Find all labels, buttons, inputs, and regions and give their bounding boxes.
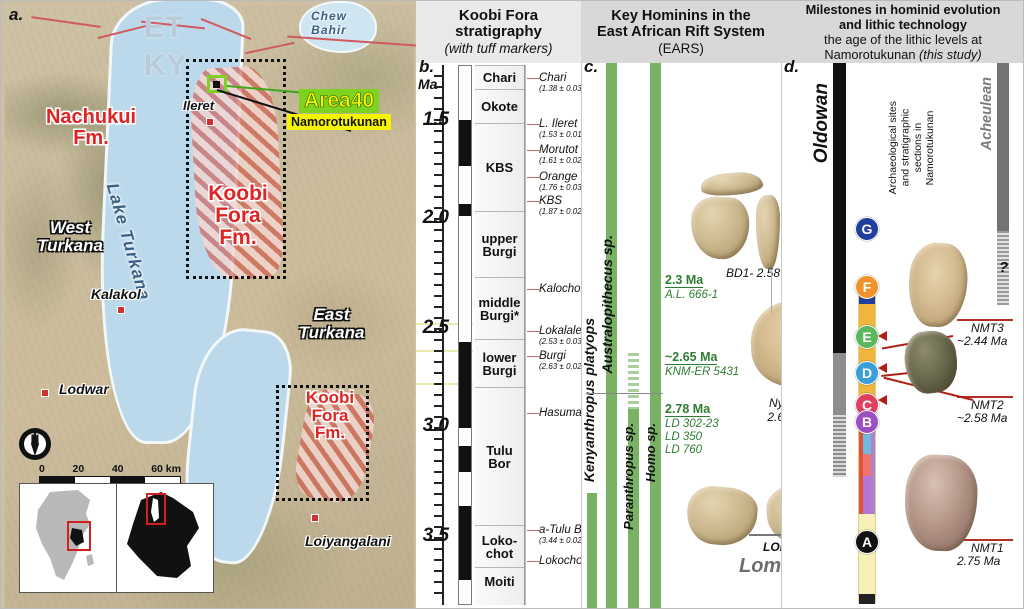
tuff-age: (1.87 ± 0.02) bbox=[539, 208, 583, 216]
strat-header-title: Koobi Fora stratigraphy bbox=[455, 8, 542, 42]
axis-tick-minor bbox=[434, 537, 443, 539]
industry-label-oldowan: Oldowan bbox=[811, 83, 833, 163]
place-marker-loiyangalani bbox=[311, 514, 319, 522]
range-connector-line-kenyanthropus bbox=[587, 393, 663, 394]
tech-panel-header: Milestones in hominid evolution and lith… bbox=[781, 1, 1024, 63]
axis-tick-minor bbox=[434, 251, 443, 253]
tech-panel: Oldowan Acheulean ? Archaeological sites… bbox=[781, 63, 1024, 609]
svg-text:N: N bbox=[31, 432, 40, 446]
tuff-marker-burgi: Burgi(2.63 ± 0.02) bbox=[529, 351, 583, 371]
area40-site-dot bbox=[213, 81, 220, 88]
nmt-pointer-arrowhead bbox=[878, 331, 887, 341]
taxon-label-australopithecus: Australopithecus sp. bbox=[599, 235, 615, 373]
tech-header-line4: Namorotukunan (this study) bbox=[824, 47, 981, 62]
hominin-header-subtitle: (EARS) bbox=[658, 41, 704, 56]
member-upper-burgi: upper Burgi bbox=[475, 211, 524, 277]
place-marker-ileret bbox=[206, 118, 214, 126]
inset-locator-maps bbox=[19, 483, 214, 593]
hominin-note-specimen: LD 302-23 LD 350 LD 760 bbox=[665, 418, 719, 457]
axis-tick-minor bbox=[434, 284, 443, 286]
tech-header-line3-text: the age of the lithic levels at bbox=[824, 32, 982, 47]
koobi-fora-fm-label-north: Koobi Fora Fm. bbox=[193, 183, 283, 248]
panel-d-left-border bbox=[781, 63, 782, 609]
tuff-name: Morutot bbox=[539, 145, 583, 157]
tuff-tick bbox=[527, 289, 541, 290]
tuff-age: (1.53 ± 0.01) bbox=[539, 131, 583, 139]
axis-tick-minor bbox=[434, 317, 443, 319]
nmt-label-nmt1: NMT12.75 Ma bbox=[957, 539, 1013, 568]
place-label-kalakol: Kalakol bbox=[91, 286, 141, 302]
east-turkana-label: East Turkana bbox=[279, 306, 384, 342]
member-lower-burgi: lower Burgi bbox=[475, 339, 524, 387]
nmt-pointer-arrowhead bbox=[878, 395, 887, 405]
taxon-label-kenyanthropus: Kenyanthropus platyops bbox=[581, 318, 597, 482]
hominin-note-specimen: A.L. 666-1 bbox=[665, 289, 718, 302]
nmt-label-nmt2: NMT2~2.58 Ma bbox=[957, 396, 1013, 425]
axis-tick-minor bbox=[434, 185, 443, 187]
hominin-note-age: 2.78 Ma bbox=[665, 402, 710, 417]
axis-tick-minor bbox=[434, 152, 443, 154]
axis-tick-minor bbox=[434, 273, 443, 275]
industry-bar-oldowan-grey bbox=[833, 353, 846, 413]
place-label-lodwar: Lodwar bbox=[59, 381, 109, 397]
nmt-label-nmt3: NMT3~2.44 Ma bbox=[957, 319, 1013, 348]
axis-tick-minor bbox=[434, 394, 443, 396]
mag-band bbox=[459, 342, 471, 428]
tuff-name: L. Ileret bbox=[539, 119, 583, 131]
axis-tick-minor bbox=[434, 460, 443, 462]
axis-tick-minor bbox=[434, 262, 443, 264]
chew-bahir-label: Chew Bahir bbox=[311, 9, 347, 37]
map-scalebar: 0 20 40 60 km bbox=[39, 463, 181, 485]
member-middle-burgi: middle Burgi* bbox=[475, 277, 524, 339]
axis-tick-minor bbox=[434, 548, 443, 550]
axis-tick-minor bbox=[434, 493, 443, 495]
axis-tick-minor bbox=[434, 515, 443, 517]
tuff-marker-lokalalei: Lokalalei(2.53 ± 0.03) bbox=[529, 326, 583, 346]
nmt-age: 2.75 Ma bbox=[957, 555, 1013, 568]
tuff-name: a-Tulu Bor bbox=[539, 525, 583, 537]
tuff-marker-a-tulu-bor: a-Tulu Bor(3.44 ± 0.02) bbox=[529, 525, 583, 545]
place-label-loiyangalani: Loiyangalani bbox=[305, 533, 391, 549]
scalebar-tick-0: 0 bbox=[39, 463, 45, 475]
axis-tick-minor bbox=[434, 163, 443, 165]
strat-level-marker-g[interactable]: G bbox=[855, 217, 879, 241]
west-turkana-label: West Turkana bbox=[15, 219, 125, 255]
figure-root: ET KY Lake Turkana Chew Bahir Nachukui F… bbox=[0, 0, 1024, 609]
koobi-fora-fm-label-south: Koobi Fora Fm. bbox=[289, 389, 371, 442]
industry-bar-oldowan-uncertain bbox=[833, 413, 846, 477]
tuff-tick bbox=[527, 124, 541, 125]
hominin-note-age: ~2.65 Ma bbox=[665, 350, 717, 365]
tuff-tick bbox=[527, 177, 541, 178]
panel-letter-c: c. bbox=[584, 57, 598, 77]
axis-tick-minor bbox=[434, 218, 443, 220]
hominin-note-knmer5431: ~2.65 Ma KNM-ER 5431 bbox=[665, 348, 739, 379]
place-marker-lodwar bbox=[41, 389, 49, 397]
hominin-note-ld: 2.78 Ma LD 302-23 LD 350 LD 760 bbox=[665, 400, 719, 457]
tech-header-site: Namorotukunan bbox=[824, 47, 915, 62]
strat-column-caption: Archaeological sites and stratigraphic s… bbox=[887, 101, 937, 194]
axis-tick-minor bbox=[434, 207, 443, 209]
axis-tick-minor bbox=[434, 108, 443, 110]
axis-tick-minor bbox=[434, 361, 443, 363]
tuff-name: Chari bbox=[539, 73, 583, 85]
mag-band bbox=[459, 120, 471, 166]
industry-bar-acheulean bbox=[997, 63, 1009, 231]
axis-tick-minor bbox=[434, 339, 443, 341]
axis-label-3-5: 3.5 bbox=[415, 525, 449, 547]
axis-tick-minor bbox=[434, 471, 443, 473]
panel-letter-b: b. bbox=[419, 57, 434, 77]
tech-header-title: Milestones in hominid evolution and lith… bbox=[806, 2, 1001, 32]
tuff-marker-column: Chari(1.38 ± 0.03)L. Ileret(1.53 ± 0.01)… bbox=[525, 65, 581, 605]
country-label-ky: KY bbox=[144, 49, 188, 83]
axis-tick-minor bbox=[434, 130, 443, 132]
hominin-note-age: 2.3 Ma bbox=[665, 273, 703, 288]
tuff-age: (3.44 ± 0.02) bbox=[539, 537, 583, 545]
axis-tick-minor bbox=[434, 405, 443, 407]
tuff-tick bbox=[527, 78, 541, 79]
axis-tick-minor bbox=[434, 559, 443, 561]
strat-level-marker-a[interactable]: A bbox=[855, 530, 879, 554]
member-chari: Chari bbox=[475, 65, 524, 89]
axis-tick-minor bbox=[434, 581, 443, 583]
strat-level-marker-f[interactable]: F bbox=[855, 275, 879, 299]
tuff-marker-lokochot: Lokochot bbox=[529, 556, 583, 568]
nmt-age: ~2.44 Ma bbox=[957, 335, 1013, 348]
tuff-marker-l-ileret: L. Ileret(1.53 ± 0.01) bbox=[529, 119, 583, 139]
axis-tick-minor bbox=[434, 416, 443, 418]
tuff-marker-chari: Chari(1.38 ± 0.03) bbox=[529, 73, 583, 93]
strat-level-marker-e[interactable]: E bbox=[855, 325, 879, 349]
axis-tick-minor bbox=[434, 570, 443, 572]
map-panel: ET KY Lake Turkana Chew Bahir Nachukui F… bbox=[1, 1, 416, 609]
panel-letter-a: a. bbox=[9, 5, 23, 25]
namorotukunan-map-label: Namorotukunan bbox=[287, 114, 391, 130]
tuff-name: KBS bbox=[539, 196, 583, 208]
tuff-tick bbox=[527, 356, 541, 357]
axis-tick-minor bbox=[434, 438, 443, 440]
axis-tick-minor bbox=[434, 196, 443, 198]
magnetostratigraphy-column bbox=[458, 65, 472, 605]
lithic-photo-nmt1 bbox=[903, 454, 978, 552]
axis-tick-minor bbox=[434, 75, 443, 77]
tuff-name: Lokochot bbox=[539, 556, 583, 568]
axis-tick-minor bbox=[434, 86, 443, 88]
axis-tick-minor bbox=[434, 328, 443, 330]
place-marker-kalakol bbox=[117, 306, 125, 314]
tuff-tick bbox=[527, 331, 541, 332]
nmt-pointer-arrowhead bbox=[878, 363, 887, 373]
country-label-et: ET bbox=[144, 11, 184, 45]
axis-tick-minor bbox=[434, 592, 443, 594]
panel-letter-d: d. bbox=[784, 57, 799, 77]
mag-band bbox=[459, 446, 471, 472]
nachukui-fm-label: Nachukui Fm. bbox=[21, 107, 161, 149]
member-column: ChariOkoteKBSupper Burgimiddle Burgi*low… bbox=[475, 65, 525, 605]
connector-bd1-top bbox=[771, 269, 772, 313]
strat-segment-A bbox=[859, 594, 875, 604]
tuff-name: Burgi bbox=[539, 351, 583, 363]
axis-tick-minor bbox=[434, 229, 443, 231]
axis-tick-minor bbox=[434, 350, 443, 352]
hominin-header-title: Key Hominins in the East African Rift Sy… bbox=[597, 8, 765, 41]
mag-band bbox=[459, 204, 471, 216]
tuff-tick bbox=[527, 561, 541, 562]
inset-africa-map bbox=[20, 484, 116, 592]
scalebar-tick-40: 40 bbox=[112, 463, 124, 475]
axis-tick-minor bbox=[434, 295, 443, 297]
tuff-marker-morutot: Morutot(1.61 ± 0.02) bbox=[529, 145, 583, 165]
tuff-age: (2.53 ± 0.03) bbox=[539, 338, 583, 346]
industry-bar-oldowan bbox=[833, 63, 846, 353]
tuff-marker-hasuma: Hasuma bbox=[529, 408, 583, 420]
axis-tick-minor bbox=[434, 504, 443, 506]
axis-tick-minor bbox=[434, 97, 443, 99]
axis-tick-minor bbox=[434, 383, 443, 385]
axis-label-2-5: 2.5 bbox=[415, 317, 449, 339]
strat-level-marker-d[interactable]: D bbox=[855, 361, 879, 385]
tuff-age: (1.61 ± 0.02) bbox=[539, 157, 583, 165]
tuff-marker-kalochoro: Kalochoro bbox=[529, 284, 583, 296]
axis-tick-minor bbox=[434, 427, 443, 429]
taxon-label-paranthropus: Paranthropus sp. bbox=[621, 423, 636, 530]
range-bar-kenyanthropus bbox=[587, 493, 597, 609]
lithic-photo-bd1-flake-3 bbox=[756, 195, 780, 269]
range-bar-homo bbox=[650, 63, 661, 609]
axis-tick-minor bbox=[434, 372, 443, 374]
taxon-label-homo: Homo sp. bbox=[643, 423, 658, 482]
axis-label-2-0: 2.0 bbox=[415, 207, 449, 229]
tuff-marker-kbs: KBS(1.87 ± 0.02) bbox=[529, 196, 583, 216]
member-moiti: Moiti bbox=[475, 567, 524, 595]
hominin-panel-header: Key Hominins in the East African Rift Sy… bbox=[581, 1, 781, 63]
tech-header-line3: the age of the lithic levels at bbox=[824, 32, 982, 47]
scalebar-tick-20: 20 bbox=[73, 463, 85, 475]
axis-label-1-5: 1.5 bbox=[415, 109, 449, 131]
industry-label-acheulean: Acheulean bbox=[979, 77, 995, 150]
hominin-note-al666: 2.3 Ma A.L. 666-1 bbox=[665, 271, 718, 302]
inset-kenya-map bbox=[117, 484, 213, 592]
member-okote: Okote bbox=[475, 89, 524, 123]
axis-tick-minor bbox=[434, 482, 443, 484]
nmt-name: NMT2 bbox=[971, 399, 1013, 412]
mag-band bbox=[459, 506, 471, 580]
axis-tick-minor bbox=[434, 119, 443, 121]
tuff-tick bbox=[527, 530, 541, 531]
axis-label-3-0: 3.0 bbox=[415, 415, 449, 437]
tuff-age: (1.76 ± 0.03) bbox=[539, 184, 583, 192]
tuff-age: (2.63 ± 0.02) bbox=[539, 363, 583, 371]
strat-level-marker-b[interactable]: B bbox=[855, 410, 879, 434]
tuff-name: Lokalalei bbox=[539, 326, 583, 338]
time-axis-unit-label: Ma bbox=[418, 76, 437, 92]
member-loko-chot: Loko- chot bbox=[475, 525, 524, 567]
area40-label: Area40 bbox=[299, 89, 379, 113]
tuff-tick bbox=[527, 150, 541, 151]
tech-header-study: (this study) bbox=[919, 47, 982, 62]
tuff-marker-orange: Orange(1.76 ± 0.03) bbox=[529, 172, 583, 192]
hominin-note-specimen: KNM-ER 5431 bbox=[665, 366, 739, 379]
tuff-tick bbox=[527, 201, 541, 202]
member-tulu-bor: Tulu Bor bbox=[475, 387, 524, 525]
axis-tick-minor bbox=[434, 141, 443, 143]
nmt-name: NMT1 bbox=[971, 542, 1013, 555]
nmt-age: ~2.58 Ma bbox=[957, 412, 1013, 425]
strat-segment-stripe-right bbox=[871, 424, 875, 514]
scalebar-tick-60: 60 km bbox=[151, 463, 181, 475]
member-kbs: KBS bbox=[475, 123, 524, 211]
range-bar-paranthropus bbox=[628, 353, 639, 409]
tuff-age: (1.38 ± 0.03) bbox=[539, 85, 583, 93]
tuff-name: Hasuma bbox=[539, 408, 583, 420]
tuff-tick bbox=[527, 413, 541, 414]
axis-tick-minor bbox=[434, 526, 443, 528]
place-label-ileret: Ileret bbox=[183, 98, 214, 113]
lithic-photo-nmt3 bbox=[906, 241, 970, 329]
strat-header-subtitle: (with tuff markers) bbox=[444, 41, 552, 56]
axis-tick-minor bbox=[434, 240, 443, 242]
nmt-name: NMT3 bbox=[971, 322, 1013, 335]
compass-rose: N bbox=[17, 426, 53, 462]
axis-tick-minor bbox=[434, 449, 443, 451]
axis-tick-minor bbox=[434, 306, 443, 308]
tuff-name: Kalochoro bbox=[539, 284, 583, 296]
uncertainty-question-mark-acheulean: ? bbox=[999, 259, 1008, 276]
axis-tick-minor bbox=[434, 174, 443, 176]
tuff-name: Orange bbox=[539, 172, 583, 184]
strat-panel-header: Koobi Fora stratigraphy (with tuff marke… bbox=[416, 1, 581, 63]
